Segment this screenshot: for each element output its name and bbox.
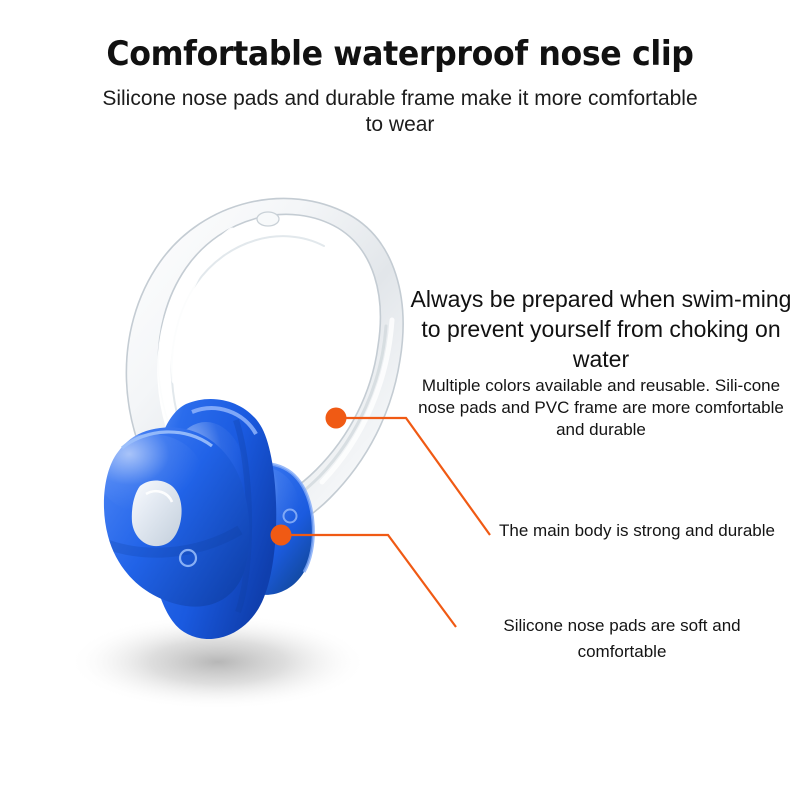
feature-text-frame: Multiple colors available and reusable. … [412, 375, 790, 441]
infographic-page: Comfortable waterproof nose clip Silicon… [0, 0, 800, 800]
callout-frame-dot [326, 408, 347, 429]
feature-text-body: The main body is strong and durable [492, 518, 782, 544]
frame-mould-nub [257, 212, 279, 226]
callout-body-dot [271, 525, 292, 546]
headline-text: Always be prepared when swim-ming to pre… [410, 284, 792, 374]
feature-text-pads: Silicone nose pads are soft and comforta… [462, 613, 782, 665]
